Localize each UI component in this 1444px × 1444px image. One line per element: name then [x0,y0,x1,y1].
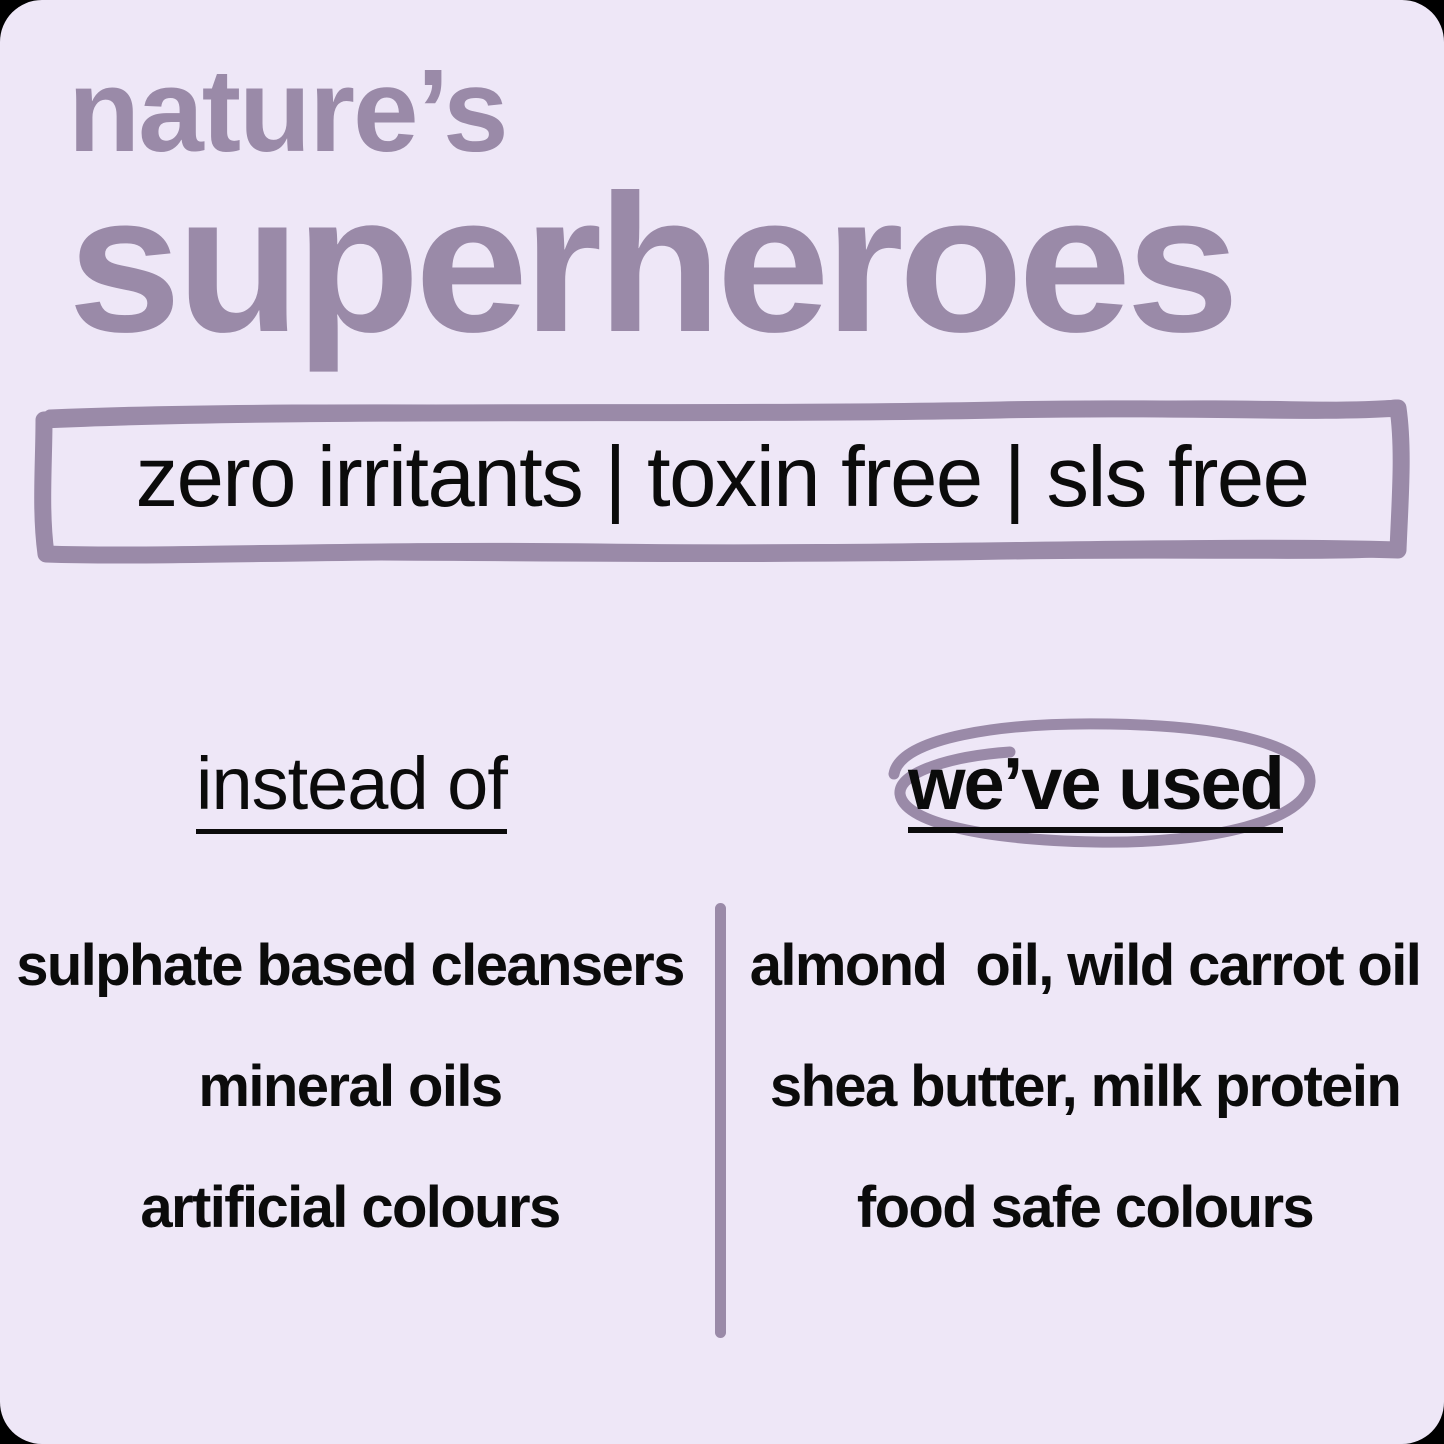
tagline-banner: zero irritants | toxin free | sls free [0,380,1444,580]
cell-instead-of: sulphate based cleansers [0,905,700,1026]
cell-instead-of: mineral oils [0,1026,700,1147]
column-header-weve-used: we’ve used [908,745,1283,833]
tagline-text: zero irritants | toxin free | sls free [0,380,1444,580]
cell-instead-of: artificial colours [0,1147,700,1268]
table-row: sulphate based cleansers almond oil, wil… [0,905,1444,1026]
cell-weve-used: shea butter, milk protein [740,1026,1430,1147]
cell-weve-used: food safe colours [740,1147,1430,1268]
comparison-list: sulphate based cleansers almond oil, wil… [0,905,1444,1268]
cell-weve-used: almond oil, wild carrot oil [740,905,1430,1026]
title-line-natures: nature’s [68,52,507,170]
table-row: artificial colours food safe colours [0,1147,1444,1268]
column-header-instead-of: instead of [196,745,507,834]
promo-card: nature’s superheroes zero irritants | to… [0,0,1444,1444]
title-line-superheroes: superheroes [68,166,1234,362]
table-row: mineral oils shea butter, milk protein [0,1026,1444,1147]
column-header-weve-used-group: we’ve used [860,712,1340,862]
